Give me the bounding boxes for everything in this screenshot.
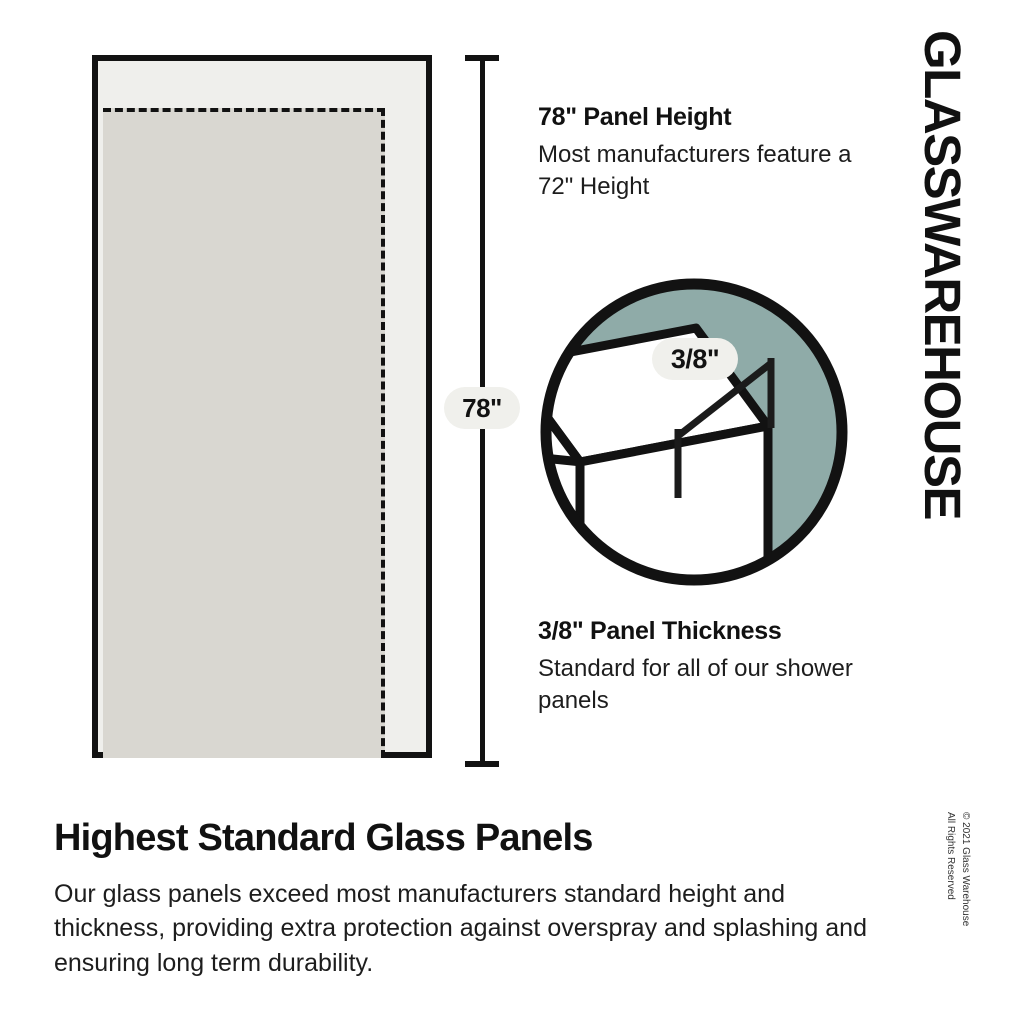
copyright-notice: © 2021 Glass Warehouse All Rights Reserv… [943,812,972,926]
dimension-cap-bottom [465,761,499,767]
glass-panel-illustration [92,55,432,758]
height-callout-title: 78" Panel Height [538,104,868,132]
height-callout-body: Most manufacturers feature a 72" Height [538,139,868,203]
standard-height-dashed-area [103,108,385,758]
infographic-canvas: 78" 78" Panel Height Most manufacturers … [0,0,1024,1024]
copyright-line-1: © 2021 Glass Warehouse [958,812,973,926]
thickness-callout: 3/8" Panel Thickness Standard for all of… [538,618,868,717]
height-value-badge: 78" [444,387,520,429]
copyright-line-2: All Rights Reserved [943,812,958,926]
height-value-text: 78" [462,393,502,424]
thickness-value-text: 3/8" [671,344,719,375]
height-callout: 78" Panel Height Most manufacturers feat… [538,104,868,203]
summary-block: Highest Standard Glass Panels Our glass … [54,818,894,980]
thickness-value-badge: 3/8" [652,338,738,380]
thickness-callout-body: Standard for all of our shower panels [538,653,868,717]
summary-heading: Highest Standard Glass Panels [54,818,894,860]
brand-wordmark: GLASSWAREHOUSE [917,30,968,519]
summary-paragraph: Our glass panels exceed most manufacture… [54,877,884,981]
thickness-diagram [538,276,850,588]
thickness-callout-title: 3/8" Panel Thickness [538,618,868,646]
